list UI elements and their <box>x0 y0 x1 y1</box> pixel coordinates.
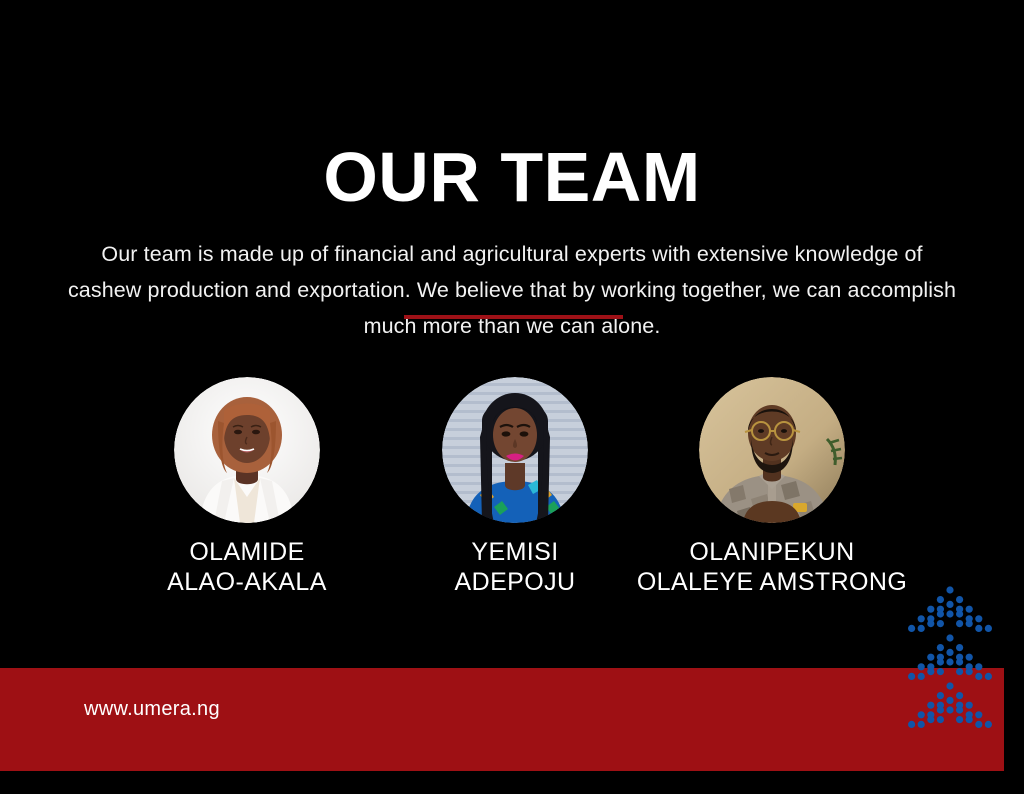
intro-paragraph: Our team is made up of financial and agr… <box>62 236 962 344</box>
portrait-yemisi-adepoju <box>442 377 588 523</box>
blue-chevron-dot-pattern <box>902 584 998 740</box>
portrait-olanipekun-olaleye-amstrong <box>699 377 845 523</box>
team-member: OLAMIDE ALAO-AKALA <box>97 372 397 597</box>
member-name-line1: OLANIPEKUN <box>689 538 854 566</box>
member-name-line2: ALAO-AKALA <box>167 568 327 596</box>
avatar <box>699 377 845 523</box>
team-member: YEMISI ADEPOJU <box>365 372 665 597</box>
member-name-line1: YEMISI <box>471 538 558 566</box>
member-name-line2: ADEPOJU <box>455 568 576 596</box>
slide-canvas: OUR TEAM Our team is made up of financia… <box>0 0 1024 794</box>
website-url[interactable]: www.umera.ng <box>84 698 220 721</box>
member-name: YEMISI ADEPOJU <box>365 537 665 597</box>
team-member-row: OLAMIDE ALAO-AKALA <box>0 372 1024 592</box>
avatar <box>174 377 320 523</box>
team-member: OLANIPEKUN OLALEYE AMSTRONG <box>622 372 922 597</box>
accent-divider <box>404 315 623 319</box>
member-name: OLAMIDE ALAO-AKALA <box>97 537 397 597</box>
avatar <box>442 377 588 523</box>
portrait-olamide-alao-akala <box>174 377 320 523</box>
page-title: OUR TEAM <box>0 135 1024 219</box>
member-name-line2: OLALEYE AMSTRONG <box>637 568 907 596</box>
member-name: OLANIPEKUN OLALEYE AMSTRONG <box>622 537 922 597</box>
member-name-line1: OLAMIDE <box>189 538 304 566</box>
